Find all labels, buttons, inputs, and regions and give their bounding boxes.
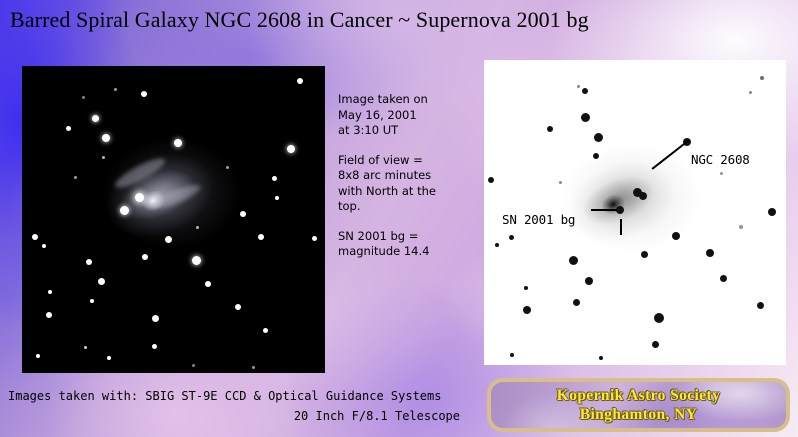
star [509,235,514,240]
star [205,281,211,287]
star [36,354,40,358]
star [641,251,648,258]
note-fov: Field of view = 8x8 arc minutes with Nor… [338,153,478,215]
star-supernova [616,206,624,214]
star [652,341,659,348]
star [84,346,87,349]
star [577,85,580,88]
sn-horizontal-tick [591,209,617,211]
star [102,156,105,159]
star [706,249,714,257]
society-badge-text: Kopernik Astro Society Binghamton, NY [557,386,721,424]
star [488,177,494,183]
star [32,234,38,240]
star [275,196,279,200]
star [582,88,588,94]
star [165,236,172,243]
star [599,356,603,360]
star [547,126,553,132]
society-name: Kopernik Astro Society [557,386,721,405]
star [263,328,268,333]
slide-root: Barred Spiral Galaxy NGC 2608 in Cancer … [0,0,798,437]
note-mag-line1: SN 2001 bg = [338,229,418,243]
star [102,134,110,142]
star [585,277,593,285]
star [720,172,723,175]
star [107,356,111,360]
note-date-line3: at 3:10 UT [338,123,398,137]
star [569,256,578,265]
note-fov-line3: with North at the [338,184,436,198]
star [720,275,727,282]
star [672,232,680,240]
star [114,88,117,91]
star [749,91,752,94]
star [192,364,195,367]
star [757,302,764,309]
note-date-line2: May 16, 2001 [338,108,417,122]
star [192,256,201,265]
star [226,166,229,169]
star [581,113,590,122]
star [523,306,531,314]
star [141,91,147,97]
note-date-line1: Image taken on [338,92,428,106]
star [90,299,94,303]
star [235,304,241,310]
inverted-ccd-image: NGC 2608 SN 2001 bg [484,60,786,365]
star [510,353,514,357]
sn2001bg-label: SN 2001 bg [502,212,575,227]
star [92,115,99,122]
credits-line-2: 20 Inch F/8.1 Telescope [8,406,460,426]
star [559,181,562,184]
note-date: Image taken on May 16, 2001 at 3:10 UT [338,92,478,139]
star [196,226,199,229]
note-fov-line1: Field of view = [338,153,423,167]
star [46,312,52,318]
star [42,244,46,248]
note-fov-line4: top. [338,199,361,213]
star [297,78,303,84]
observation-notes: Image taken on May 16, 2001 at 3:10 UT F… [338,92,478,260]
positive-ccd-image [22,66,325,373]
page-title: Barred Spiral Galaxy NGC 2608 in Cancer … [10,7,589,33]
star [152,315,159,322]
star [142,254,148,260]
star [287,145,295,153]
star [82,96,85,99]
society-badge[interactable]: Kopernik Astro Society Binghamton, NY [487,378,790,432]
star [593,153,599,159]
star [74,176,77,179]
equipment-credits: Images taken with: SBIG ST-9E CCD & Opti… [8,386,460,426]
star [768,208,776,216]
star [524,286,528,290]
star [639,192,647,200]
star [495,243,499,247]
star [240,211,246,217]
star [48,290,52,294]
star [258,234,264,240]
star [86,259,92,265]
sn-vertical-tick [620,219,622,235]
ngc2608-label: NGC 2608 [691,152,750,167]
star [66,126,71,131]
note-fov-line2: 8x8 arc minutes [338,168,431,182]
star [573,299,580,306]
star [312,236,317,241]
note-magnitude: SN 2001 bg = magnitude 14.4 [338,229,478,260]
society-location: Binghamton, NY [557,405,721,424]
star [760,76,764,80]
star [98,278,105,285]
star [654,313,664,323]
star [272,176,277,181]
star [152,344,157,349]
star [594,133,603,142]
star [120,206,129,215]
credits-line-1: Images taken with: SBIG ST-9E CCD & Opti… [8,386,460,406]
note-mag-line2: magnitude 14.4 [338,244,429,258]
star-supernova-host [135,193,144,202]
star [739,225,743,229]
star [174,139,182,147]
star [252,366,255,369]
